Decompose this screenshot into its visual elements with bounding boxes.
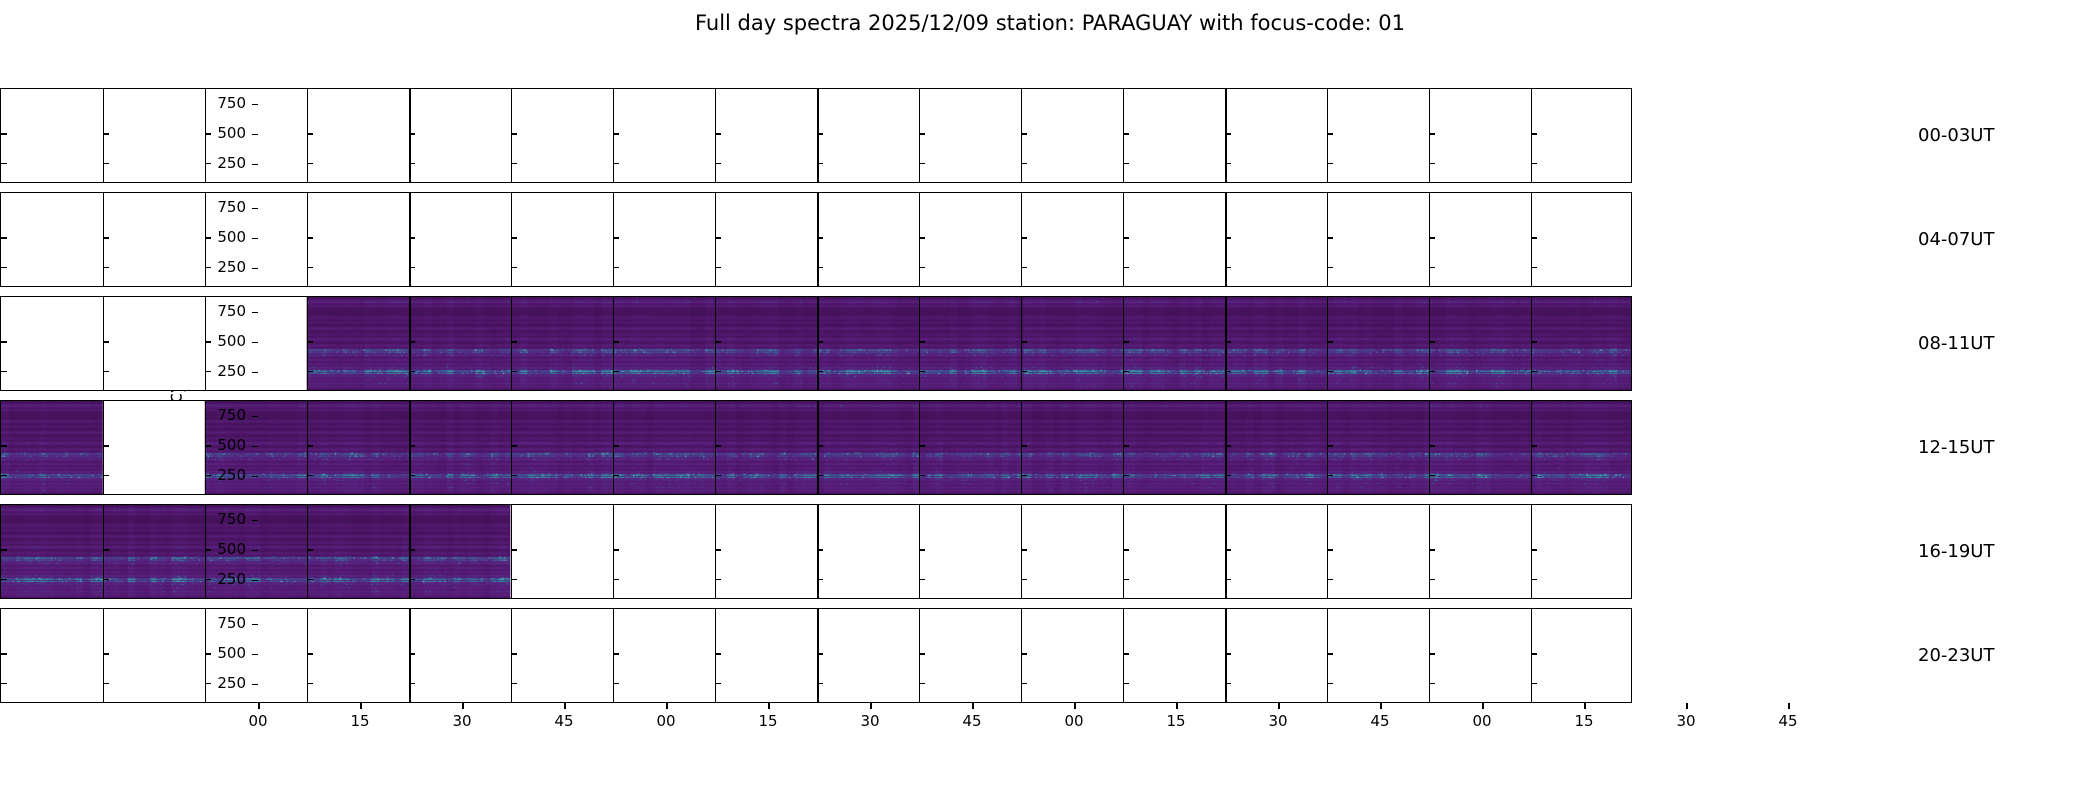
hour-separator: [1225, 297, 1227, 390]
inner-y-tick: [1021, 237, 1027, 238]
inner-y-tick: [919, 163, 925, 164]
inner-y-tick: [1225, 163, 1231, 164]
hour-separator: [1225, 401, 1227, 494]
inner-y-tick: [1123, 579, 1129, 580]
inner-y-tick: [1531, 163, 1537, 164]
inner-y-tick: [613, 475, 619, 476]
inner-y-tick: [613, 163, 619, 164]
quarter-hour-separator: [103, 89, 104, 182]
quarter-hour-separator: [919, 505, 920, 598]
inner-y-tick: [307, 653, 313, 654]
inner-y-tick: [1123, 653, 1129, 654]
inner-y-tick: [1021, 341, 1027, 342]
hour-separator: [409, 609, 411, 702]
quarter-hour-separator: [919, 401, 920, 494]
inner-y-tick: [919, 267, 925, 268]
figure-title: Full day spectra 2025/12/09 station: PAR…: [0, 10, 2100, 36]
inner-y-tick: [1531, 683, 1537, 684]
x-axis-tick: [1788, 703, 1790, 709]
y-axis-tick: [252, 446, 258, 448]
quarter-hour-separator: [1531, 193, 1532, 286]
inner-y-tick: [1531, 267, 1537, 268]
row-time-label-00-03ut: 00-03UT: [1918, 127, 1994, 145]
inner-y-tick: [817, 133, 823, 134]
inner-y-tick: [1327, 341, 1333, 342]
inner-y-tick: [817, 267, 823, 268]
inner-y-tick: [1327, 237, 1333, 238]
inner-y-tick: [1, 579, 7, 580]
quarter-hour-separator: [919, 297, 920, 390]
inner-y-tick: [511, 371, 517, 372]
y-axis-tick-label: 250: [196, 260, 246, 275]
quarter-hour-separator: [511, 297, 512, 390]
inner-y-tick: [409, 475, 415, 476]
inner-y-tick: [1327, 579, 1333, 580]
x-axis-tick-label: 30: [1268, 714, 1287, 729]
inner-y-tick: [817, 653, 823, 654]
inner-y-tick: [1429, 341, 1435, 342]
inner-y-tick: [817, 341, 823, 342]
quarter-hour-separator: [1123, 505, 1124, 598]
inner-y-tick: [817, 371, 823, 372]
y-axis-tick: [252, 134, 258, 136]
inner-y-tick: [1021, 267, 1027, 268]
quarter-hour-separator: [1531, 89, 1532, 182]
inner-y-tick: [1327, 445, 1333, 446]
quarter-hour-separator: [919, 89, 920, 182]
quarter-hour-separator: [307, 89, 308, 182]
quarter-hour-separator: [715, 297, 716, 390]
quarter-hour-separator: [613, 297, 614, 390]
inner-y-tick: [1021, 371, 1027, 372]
inner-y-tick: [1021, 683, 1027, 684]
inner-y-tick: [409, 133, 415, 134]
hour-separator: [817, 505, 819, 598]
x-axis-tick: [972, 703, 974, 709]
hour-separator: [1225, 193, 1227, 286]
y-axis-tick-label: 750: [196, 304, 246, 319]
inner-y-tick: [1327, 475, 1333, 476]
hour-separator: [1225, 89, 1227, 182]
inner-y-tick: [1327, 549, 1333, 550]
figure-root: Full day spectra 2025/12/09 station: PAR…: [0, 0, 2100, 800]
inner-y-tick: [307, 549, 313, 550]
quarter-hour-separator: [919, 609, 920, 702]
row-time-label-12-15ut: 12-15UT: [1918, 439, 1994, 457]
inner-y-tick: [613, 341, 619, 342]
inner-y-tick: [919, 445, 925, 446]
inner-y-tick: [307, 445, 313, 446]
inner-y-tick: [715, 341, 721, 342]
inner-y-tick: [409, 341, 415, 342]
quarter-hour-separator: [1021, 505, 1022, 598]
inner-y-tick: [1429, 579, 1435, 580]
y-axis-tick: [252, 104, 258, 106]
y-axis-tick-label: 500: [196, 126, 246, 141]
hour-separator: [817, 401, 819, 494]
quarter-hour-separator: [613, 505, 614, 598]
inner-y-tick: [817, 445, 823, 446]
inner-y-tick: [715, 267, 721, 268]
inner-y-tick: [1, 683, 7, 684]
quarter-hour-separator: [1531, 505, 1532, 598]
quarter-hour-separator: [1021, 89, 1022, 182]
y-axis-tick: [252, 372, 258, 374]
inner-y-tick: [715, 237, 721, 238]
x-axis-tick-label: 30: [860, 714, 879, 729]
y-axis-tick-label: 250: [196, 156, 246, 171]
x-axis-tick-label: 45: [554, 714, 573, 729]
inner-y-tick: [715, 579, 721, 580]
quarter-hour-separator: [103, 609, 104, 702]
quarter-hour-separator: [511, 609, 512, 702]
quarter-hour-separator: [1429, 193, 1430, 286]
inner-y-tick: [1225, 445, 1231, 446]
inner-y-tick: [409, 445, 415, 446]
y-axis-tick: [252, 342, 258, 344]
quarter-hour-separator: [511, 505, 512, 598]
y-axis-tick: [252, 580, 258, 582]
quarter-hour-separator: [1531, 609, 1532, 702]
quarter-hour-separator: [613, 193, 614, 286]
row-time-label-16-19ut: 16-19UT: [1918, 543, 1994, 561]
inner-y-tick: [817, 163, 823, 164]
y-axis-tick-label: 750: [196, 96, 246, 111]
x-axis-tick-label: 15: [1166, 714, 1185, 729]
inner-y-tick: [1, 445, 7, 446]
y-axis-tick-label: 250: [196, 572, 246, 587]
inner-y-tick: [1429, 133, 1435, 134]
x-axis-tick-label: 00: [248, 714, 267, 729]
inner-y-tick: [919, 549, 925, 550]
x-axis-tick-label: 45: [1370, 714, 1389, 729]
inner-y-tick: [1429, 371, 1435, 372]
inner-y-tick: [103, 475, 109, 476]
inner-y-tick: [307, 341, 313, 342]
quarter-hour-separator: [103, 505, 104, 598]
inner-y-tick: [103, 371, 109, 372]
quarter-hour-separator: [511, 401, 512, 494]
inner-y-tick: [1225, 549, 1231, 550]
inner-y-tick: [1531, 653, 1537, 654]
quarter-hour-separator: [715, 193, 716, 286]
inner-y-tick: [1, 549, 7, 550]
x-axis-tick: [870, 703, 872, 709]
inner-y-tick: [1, 475, 7, 476]
inner-y-tick: [1327, 683, 1333, 684]
quarter-hour-separator: [1531, 401, 1532, 494]
x-axis-tick-label: 00: [1064, 714, 1083, 729]
quarter-hour-separator: [307, 401, 308, 494]
y-axis-tick-label: 750: [196, 616, 246, 631]
inner-y-tick: [1429, 653, 1435, 654]
inner-y-tick: [919, 341, 925, 342]
inner-y-tick: [613, 133, 619, 134]
inner-y-tick: [715, 475, 721, 476]
inner-y-tick: [613, 683, 619, 684]
quarter-hour-separator: [1123, 193, 1124, 286]
inner-y-tick: [1123, 445, 1129, 446]
inner-y-tick: [613, 653, 619, 654]
inner-y-tick: [919, 371, 925, 372]
hour-separator: [817, 193, 819, 286]
inner-y-tick: [511, 163, 517, 164]
x-axis-tick-label: 15: [758, 714, 777, 729]
quarter-hour-separator: [1123, 609, 1124, 702]
quarter-hour-separator: [715, 609, 716, 702]
inner-y-tick: [1429, 549, 1435, 550]
inner-y-tick: [919, 237, 925, 238]
inner-y-tick: [1225, 475, 1231, 476]
inner-y-tick: [511, 267, 517, 268]
inner-y-tick: [1123, 371, 1129, 372]
y-axis-tick-label: 250: [196, 468, 246, 483]
quarter-hour-separator: [1327, 609, 1328, 702]
inner-y-tick: [1225, 341, 1231, 342]
inner-y-tick: [613, 549, 619, 550]
inner-y-tick: [511, 475, 517, 476]
inner-y-tick: [103, 445, 109, 446]
quarter-hour-separator: [1327, 297, 1328, 390]
inner-y-tick: [1429, 237, 1435, 238]
x-axis-tick: [1584, 703, 1586, 709]
inner-y-tick: [511, 579, 517, 580]
inner-y-tick: [1123, 683, 1129, 684]
inner-y-tick: [1531, 341, 1537, 342]
row-time-label-04-07ut: 04-07UT: [1918, 231, 1994, 249]
x-axis-tick: [1074, 703, 1076, 709]
quarter-hour-separator: [1021, 401, 1022, 494]
inner-y-tick: [1225, 653, 1231, 654]
inner-y-tick: [1531, 549, 1537, 550]
inner-y-tick: [1, 341, 7, 342]
quarter-hour-separator: [1429, 401, 1430, 494]
y-axis-tick-label: 500: [196, 230, 246, 245]
inner-y-tick: [715, 549, 721, 550]
inner-y-tick: [715, 371, 721, 372]
inner-y-tick: [1, 237, 7, 238]
quarter-hour-separator: [1123, 401, 1124, 494]
quarter-hour-separator: [103, 193, 104, 286]
inner-y-tick: [1327, 267, 1333, 268]
inner-y-tick: [511, 133, 517, 134]
hour-separator: [409, 89, 411, 182]
hour-separator: [409, 505, 411, 598]
inner-y-tick: [1429, 475, 1435, 476]
x-axis-tick: [1380, 703, 1382, 709]
y-axis-tick: [252, 312, 258, 314]
inner-y-tick: [1123, 163, 1129, 164]
quarter-hour-separator: [307, 297, 308, 390]
inner-y-tick: [613, 267, 619, 268]
y-axis-tick: [252, 550, 258, 552]
inner-y-tick: [409, 579, 415, 580]
quarter-hour-separator: [511, 89, 512, 182]
quarter-hour-separator: [1327, 89, 1328, 182]
y-axis-tick: [252, 208, 258, 210]
inner-y-tick: [1123, 267, 1129, 268]
inner-y-tick: [103, 683, 109, 684]
quarter-hour-separator: [613, 609, 614, 702]
inner-y-tick: [1021, 549, 1027, 550]
x-axis-tick: [564, 703, 566, 709]
inner-y-tick: [409, 371, 415, 372]
inner-y-tick: [1123, 475, 1129, 476]
inner-y-tick: [1225, 237, 1231, 238]
inner-y-tick: [409, 683, 415, 684]
inner-y-tick: [1123, 341, 1129, 342]
inner-y-tick: [307, 371, 313, 372]
x-axis-tick: [1176, 703, 1178, 709]
y-axis-tick-label: 750: [196, 512, 246, 527]
inner-y-tick: [511, 341, 517, 342]
inner-y-tick: [1225, 371, 1231, 372]
inner-y-tick: [511, 683, 517, 684]
quarter-hour-separator: [1327, 505, 1328, 598]
x-axis-tick: [258, 703, 260, 709]
inner-y-tick: [103, 237, 109, 238]
inner-y-tick: [1327, 653, 1333, 654]
x-axis-tick: [1686, 703, 1688, 709]
inner-y-tick: [409, 549, 415, 550]
inner-y-tick: [1, 653, 7, 654]
quarter-hour-separator: [307, 193, 308, 286]
inner-y-tick: [817, 579, 823, 580]
inner-y-tick: [307, 133, 313, 134]
hour-separator: [1225, 505, 1227, 598]
inner-y-tick: [1021, 133, 1027, 134]
inner-y-tick: [1531, 475, 1537, 476]
x-axis-tick: [360, 703, 362, 709]
quarter-hour-separator: [1429, 609, 1430, 702]
hour-separator: [817, 297, 819, 390]
inner-y-tick: [1021, 579, 1027, 580]
inner-y-tick: [409, 163, 415, 164]
quarter-hour-separator: [1123, 297, 1124, 390]
inner-y-tick: [919, 475, 925, 476]
inner-y-tick: [1327, 371, 1333, 372]
inner-y-tick: [817, 237, 823, 238]
quarter-hour-separator: [919, 193, 920, 286]
inner-y-tick: [1021, 163, 1027, 164]
quarter-hour-separator: [1327, 193, 1328, 286]
x-axis-tick-label: 00: [1472, 714, 1491, 729]
y-axis-tick: [252, 684, 258, 686]
inner-y-tick: [715, 653, 721, 654]
x-axis-tick-label: 30: [452, 714, 471, 729]
quarter-hour-separator: [715, 89, 716, 182]
quarter-hour-separator: [511, 193, 512, 286]
inner-y-tick: [307, 475, 313, 476]
y-axis-tick-label: 750: [196, 408, 246, 423]
x-axis-tick: [462, 703, 464, 709]
inner-y-tick: [1225, 683, 1231, 684]
inner-y-tick: [1429, 163, 1435, 164]
inner-y-tick: [919, 653, 925, 654]
y-axis-tick-label: 500: [196, 646, 246, 661]
inner-y-tick: [1531, 371, 1537, 372]
y-axis-tick: [252, 654, 258, 656]
quarter-hour-separator: [715, 505, 716, 598]
x-axis-tick-label: 45: [962, 714, 981, 729]
inner-y-tick: [307, 267, 313, 268]
inner-y-tick: [1429, 267, 1435, 268]
y-axis-tick: [252, 164, 258, 166]
quarter-hour-separator: [1429, 89, 1430, 182]
inner-y-tick: [103, 653, 109, 654]
y-axis-tick: [252, 624, 258, 626]
inner-y-tick: [103, 549, 109, 550]
inner-y-tick: [307, 579, 313, 580]
inner-y-tick: [715, 133, 721, 134]
inner-y-tick: [511, 445, 517, 446]
quarter-hour-separator: [715, 401, 716, 494]
inner-y-tick: [613, 579, 619, 580]
quarter-hour-separator: [1429, 505, 1430, 598]
inner-y-tick: [1225, 133, 1231, 134]
inner-y-tick: [511, 653, 517, 654]
inner-y-tick: [1327, 133, 1333, 134]
y-axis-tick-label: 500: [196, 438, 246, 453]
inner-y-tick: [307, 237, 313, 238]
inner-y-tick: [715, 683, 721, 684]
inner-y-tick: [715, 445, 721, 446]
y-axis-tick: [252, 416, 258, 418]
inner-y-tick: [817, 475, 823, 476]
inner-y-tick: [1531, 237, 1537, 238]
inner-y-tick: [613, 445, 619, 446]
inner-y-tick: [1021, 653, 1027, 654]
inner-y-tick: [1021, 445, 1027, 446]
inner-y-tick: [1021, 475, 1027, 476]
inner-y-tick: [1531, 445, 1537, 446]
inner-y-tick: [511, 549, 517, 550]
quarter-hour-separator: [103, 297, 104, 390]
inner-y-tick: [307, 683, 313, 684]
inner-y-tick: [1, 163, 7, 164]
y-axis-tick-label: 250: [196, 676, 246, 691]
x-axis-tick: [1482, 703, 1484, 709]
y-axis-tick: [252, 238, 258, 240]
inner-y-tick: [1, 133, 7, 134]
inner-y-tick: [613, 237, 619, 238]
quarter-hour-separator: [613, 89, 614, 182]
inner-y-tick: [103, 133, 109, 134]
x-axis-tick-label: 15: [1574, 714, 1593, 729]
hour-separator: [409, 401, 411, 494]
y-axis-tick-label: 750: [196, 200, 246, 215]
inner-y-tick: [1123, 237, 1129, 238]
quarter-hour-separator: [103, 401, 104, 494]
inner-y-tick: [103, 163, 109, 164]
x-axis-tick-label: 45: [1778, 714, 1797, 729]
inner-y-tick: [307, 163, 313, 164]
inner-y-tick: [919, 133, 925, 134]
row-time-label-08-11ut: 08-11UT: [1918, 335, 1994, 353]
inner-y-tick: [103, 579, 109, 580]
inner-y-tick: [1531, 579, 1537, 580]
quarter-hour-separator: [307, 609, 308, 702]
inner-y-tick: [1225, 579, 1231, 580]
inner-y-tick: [1429, 683, 1435, 684]
quarter-hour-separator: [1021, 609, 1022, 702]
row-time-label-20-23ut: 20-23UT: [1918, 647, 1994, 665]
inner-y-tick: [613, 371, 619, 372]
hour-separator: [409, 193, 411, 286]
hour-separator: [1225, 609, 1227, 702]
inner-y-tick: [409, 237, 415, 238]
inner-y-tick: [1225, 267, 1231, 268]
